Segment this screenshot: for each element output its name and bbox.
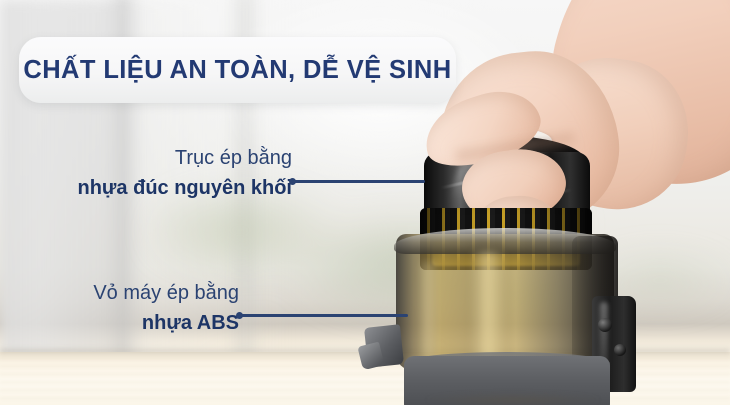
promo-image: CHẤT LIỆU AN TOÀN, DỄ VỆ SINH Trục ép bằ…	[0, 0, 730, 405]
juice-bowl-highlight-secondary	[418, 262, 438, 358]
title-badge: CHẤT LIỆU AN TOÀN, DỄ VỆ SINH	[19, 37, 456, 103]
callout-housing-material: Vỏ máy ép bằng nhựa ABS	[0, 283, 239, 334]
juice-bowl-highlight	[470, 252, 506, 362]
callout-auger-line-2: nhựa đúc nguyên khối	[0, 178, 292, 199]
leader-line-housing	[238, 314, 408, 317]
callout-auger-line-1: Trục ép bằng	[0, 148, 292, 169]
product-shadow	[388, 392, 638, 405]
leader-line-auger	[291, 180, 425, 183]
callout-housing-line-1: Vỏ máy ép bằng	[0, 283, 239, 304]
callout-housing-line-2: nhựa ABS	[0, 313, 239, 334]
latch-screw-upper	[598, 318, 612, 332]
callout-auger-material: Trục ép bằng nhựa đúc nguyên khối	[0, 148, 292, 199]
latch-screw-lower	[614, 344, 626, 356]
page-title: CHẤT LIỆU AN TOÀN, DỄ VỆ SINH	[23, 56, 451, 85]
